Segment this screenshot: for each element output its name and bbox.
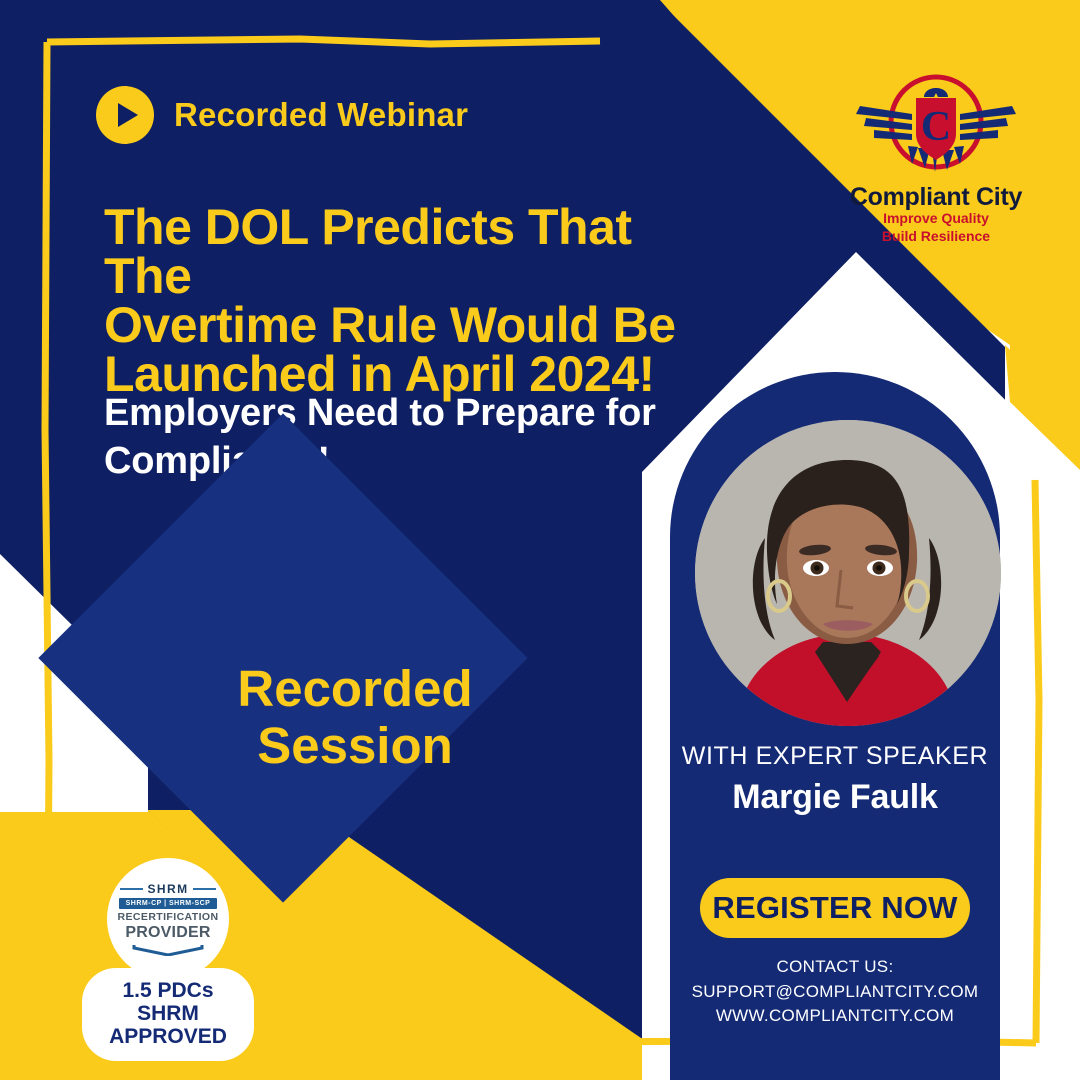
subhead-line-1: Employers Need to Prepare for xyxy=(104,390,714,438)
chevron-down-icon xyxy=(132,944,204,956)
shrm-recertification-badge: SHRM SHRM-CP | SHRM-SCP RECERTIFICATION … xyxy=(78,858,258,1061)
webinar-promo-poster: Recorded Webinar C Compliant City xyxy=(0,0,1080,1080)
register-now-button[interactable]: REGISTER NOW xyxy=(700,878,970,938)
shrm-provider-label: PROVIDER xyxy=(125,925,210,941)
pdc-count: 1.5 PDCs xyxy=(102,979,234,1002)
recorded-session-label: Recorded Session xyxy=(175,660,535,774)
recorded-webinar-badge: Recorded Webinar xyxy=(96,86,468,144)
headline-line-1: The DOL Predicts That The xyxy=(104,203,724,301)
speaker-headshot xyxy=(695,420,1001,726)
compliant-city-logo: C Compliant City Improve Quality Build R… xyxy=(838,70,1034,245)
pdc-credit-pill: 1.5 PDCs SHRM APPROVED xyxy=(82,968,254,1061)
rule-left xyxy=(120,888,143,890)
eagle-shield-logo-icon: C xyxy=(838,70,1034,182)
register-now-label: REGISTER NOW xyxy=(712,890,957,926)
shrm-approved-label: SHRM APPROVED xyxy=(102,1002,234,1048)
contact-website[interactable]: WWW.COMPLIANTCITY.COM xyxy=(670,1004,1000,1029)
contact-info: CONTACT US: SUPPORT@COMPLIANTCITY.COM WW… xyxy=(670,955,1000,1029)
contact-email[interactable]: SUPPORT@COMPLIANTCITY.COM xyxy=(670,980,1000,1005)
shrm-certification-label: SHRM-CP | SHRM-SCP xyxy=(119,898,218,909)
recorded-session-line-1: Recorded xyxy=(175,660,535,717)
svg-text:C: C xyxy=(921,104,951,150)
speaker-name: Margie Faulk xyxy=(670,778,1000,817)
logo-tagline-line2: Build Resilience xyxy=(838,228,1034,246)
recorded-session-line-2: Session xyxy=(175,717,535,774)
page-title: The DOL Predicts That The Overtime Rule … xyxy=(104,203,724,399)
headline-line-2: Overtime Rule Would Be xyxy=(104,301,724,350)
shrm-wordmark: SHRM xyxy=(148,882,189,896)
shrm-recertification-label: RECERTIFICATION xyxy=(118,911,219,923)
play-icon xyxy=(96,86,154,144)
recorded-webinar-label: Recorded Webinar xyxy=(174,96,468,134)
shrm-seal: SHRM SHRM-CP | SHRM-SCP RECERTIFICATION … xyxy=(107,858,229,980)
play-triangle-icon xyxy=(118,103,138,127)
shrm-top-rule: SHRM xyxy=(120,882,216,896)
logo-company-name: Compliant City xyxy=(838,184,1034,210)
subhead-line-2: Compliance! xyxy=(104,438,714,486)
rule-right xyxy=(193,888,216,890)
contact-heading: CONTACT US: xyxy=(670,955,1000,980)
page-subtitle: Employers Need to Prepare for Compliance… xyxy=(104,390,714,485)
logo-tagline-line1: Improve Quality xyxy=(838,210,1034,228)
speaker-kicker: WITH EXPERT SPEAKER xyxy=(670,742,1000,771)
